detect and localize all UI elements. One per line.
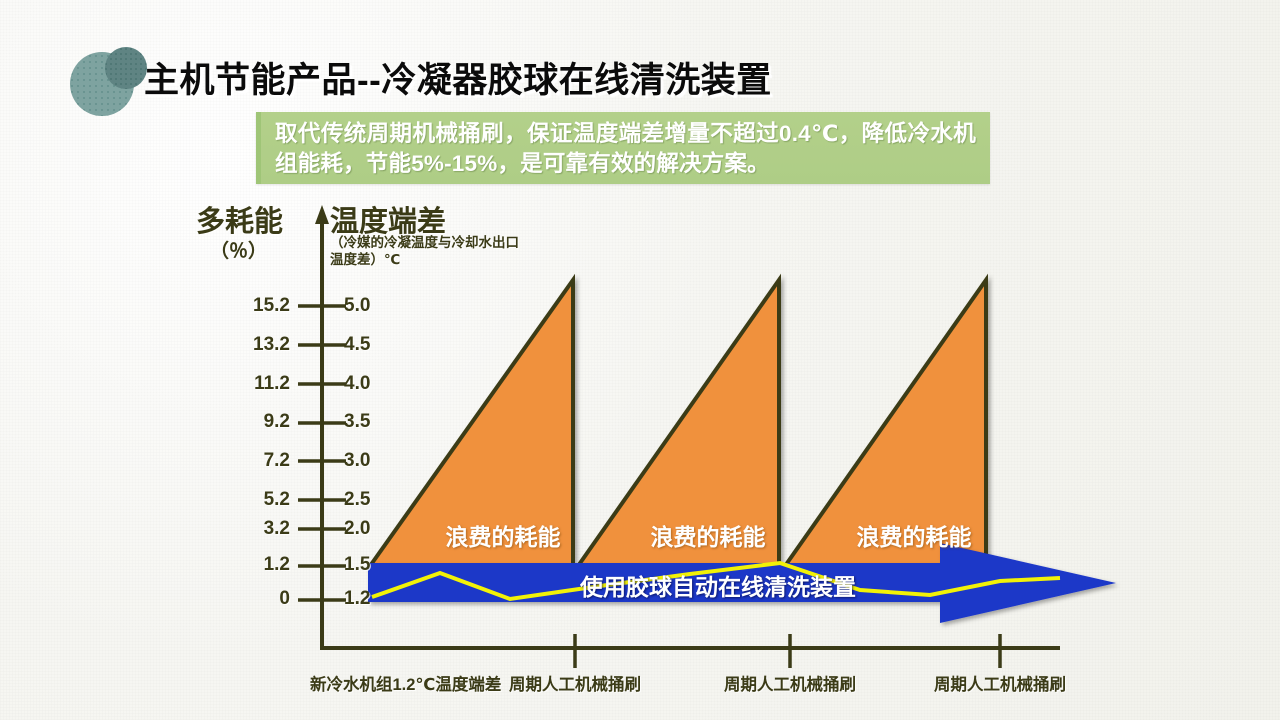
category-label-0: 新冷水机组1.2℃温度端差: [310, 671, 501, 695]
y-axis-arrow-icon: [315, 205, 329, 224]
tick-left-4: 7.2: [198, 450, 290, 472]
sawtooth-label-2: 浪费的耗能: [651, 518, 766, 552]
cleaning-device-label: 使用胶球自动在线清洗装置: [580, 568, 856, 602]
category-label-3: 周期人工机械捅刷: [934, 671, 1066, 695]
category-label-2: 周期人工机械捅刷: [724, 671, 856, 695]
tick-right-3: 3.5: [344, 411, 370, 433]
x-axis-ticks: [575, 634, 1000, 668]
tick-left-1: 13.2: [198, 334, 290, 356]
left-axis-unit: （％）: [210, 236, 267, 263]
sawtooth-energy-chart: [0, 0, 1280, 720]
tick-left-5: 5.2: [198, 489, 290, 511]
sawtooth-label-3: 浪费的耗能: [857, 518, 972, 552]
tick-right-2: 4.0: [344, 373, 370, 395]
left-axis-title: 多耗能: [196, 198, 283, 240]
tick-right-7: 1.5: [344, 554, 370, 576]
tick-right-8: 1.2: [344, 588, 370, 610]
tick-right-5: 2.5: [344, 489, 370, 511]
right-axis-subtitle: （冷媒的冷凝温度与冷却水出口温度差）℃: [330, 234, 530, 268]
tick-right-6: 2.0: [344, 518, 370, 540]
tick-right-1: 4.5: [344, 334, 370, 356]
category-label-1: 周期人工机械捅刷: [509, 671, 641, 695]
tick-left-3: 9.2: [198, 411, 290, 433]
sawtooth-label-1: 浪费的耗能: [446, 518, 561, 552]
tick-left-8: 0: [198, 588, 290, 610]
tick-left-0: 15.2: [198, 295, 290, 317]
tick-right-4: 3.0: [344, 450, 370, 472]
tick-left-2: 11.2: [198, 373, 290, 395]
tick-left-7: 1.2: [198, 554, 290, 576]
tick-left-6: 3.2: [198, 518, 290, 540]
tick-right-0: 5.0: [344, 295, 370, 317]
